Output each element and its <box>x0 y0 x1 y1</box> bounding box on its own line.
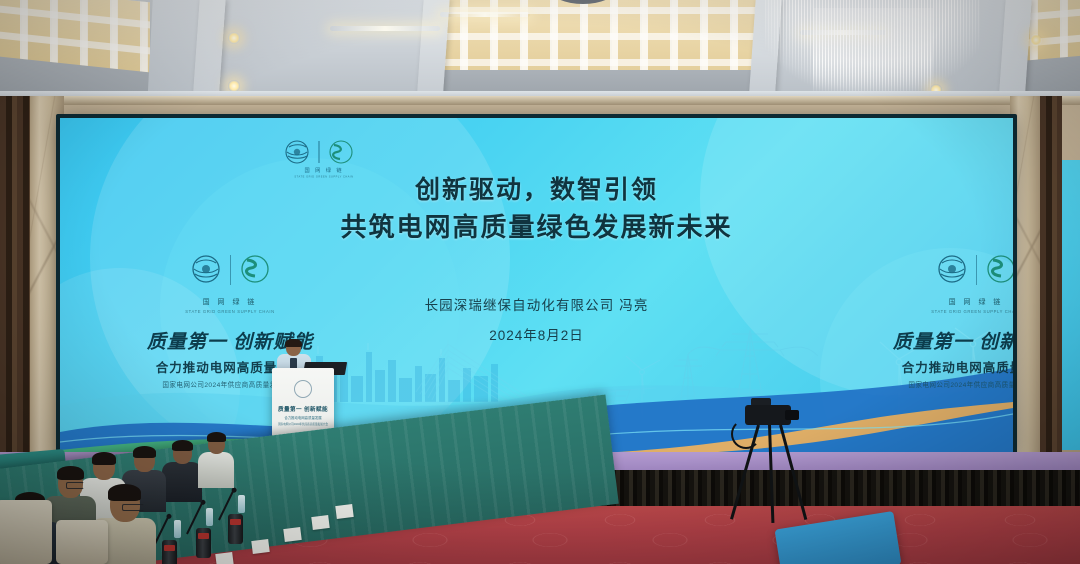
thermos-flask <box>228 514 243 544</box>
state-grid-globe-icon-right <box>933 251 971 289</box>
marble-column-left <box>30 96 64 466</box>
water-bottle <box>238 495 245 513</box>
cove-strip-light-1 <box>330 26 440 31</box>
audience-hair <box>57 466 84 480</box>
state-grid-globe-icon-left <box>187 251 225 289</box>
marble-column-right <box>1010 96 1040 466</box>
audience-hair <box>133 446 156 458</box>
ballroom-ceiling <box>0 0 1080 104</box>
audience-hair <box>172 440 193 451</box>
wall-top-trim <box>0 96 1080 105</box>
name-tent-card <box>251 539 269 554</box>
audience-torso <box>162 462 202 502</box>
slide-title-line1: 创新驱动，数智引领 <box>60 172 1013 209</box>
podium-brand-line2: 合力推动电网高质量发展 <box>272 415 334 420</box>
banner-right-subhead: 合力推动电网高质量发展 <box>878 357 1013 376</box>
podium-logo-icon <box>294 380 312 398</box>
slide-date: 2024年8月2日 <box>60 324 1013 344</box>
thermos-flask <box>162 540 177 564</box>
ceiling-bay-center <box>430 0 760 70</box>
camera-lens <box>785 410 799 420</box>
tripod-leg-center <box>768 425 774 523</box>
podium-brand-line3: 国家电网公司2024年供应商高质量发展大会 <box>272 422 334 426</box>
banner-right-logo-divider <box>976 255 977 285</box>
audience-person <box>198 432 234 486</box>
ceiling-soffit-left <box>147 0 432 104</box>
conference-photo-scene: 国 网 绿 链 STATE GRID GREEN SUPPLY CHAIN <box>0 0 1080 564</box>
banner-left-logos <box>132 244 328 296</box>
audience-torso <box>198 452 234 488</box>
banner-right-logos <box>878 244 1013 296</box>
ceiling-lattice-center <box>430 0 760 70</box>
marble-veining-left <box>30 96 64 466</box>
ceiling-bay-left <box>0 0 150 72</box>
water-bottle <box>206 508 213 526</box>
downlight-1 <box>228 32 240 44</box>
ceiling-lattice-left <box>0 0 150 72</box>
name-tent-card <box>311 515 329 530</box>
slide-presenter-line: 长园深瑞继保自动化有限公司 冯亮 <box>60 294 1013 314</box>
banner-right-footnote: 国家电网公司2024年供应商高质量发展大会 <box>878 379 1013 389</box>
chandelier-core <box>813 8 933 94</box>
name-tent-card <box>335 504 353 519</box>
banner-left-logo-divider <box>230 255 231 285</box>
name-tent-card <box>215 552 233 564</box>
eyeglasses-icon <box>66 482 84 489</box>
audience-hair <box>92 452 116 465</box>
right-curtain <box>1040 96 1062 468</box>
slide-title: 创新驱动，数智引领 共筑电网高质量绿色发展新未来 <box>60 172 1013 246</box>
cove-strip-light-2 <box>440 12 530 17</box>
audience-hair <box>108 484 141 501</box>
audience-chair <box>56 520 108 564</box>
audience-chair <box>0 500 52 564</box>
right-screen-sliver <box>1062 160 1080 450</box>
podium-brand-line1: 质量第一 创新赋能 <box>272 405 334 413</box>
thermos-flask <box>196 528 211 558</box>
green-chain-icon-right <box>982 251 1014 289</box>
video-camera-tripod <box>735 405 803 525</box>
audience-hair <box>207 432 226 442</box>
left-curtain <box>0 96 34 468</box>
audience-person <box>162 440 202 500</box>
downlight-3 <box>1030 34 1042 46</box>
water-bottle <box>174 520 181 538</box>
green-chain-icon-left <box>236 251 274 289</box>
crystal-chandelier <box>765 0 980 100</box>
slide-title-line2: 共筑电网高质量绿色发展新未来 <box>60 209 1013 247</box>
name-tent-card <box>283 527 301 542</box>
eyeglasses-icon <box>122 504 144 511</box>
presenter-hair <box>285 339 302 347</box>
marble-veining-right <box>1010 96 1040 466</box>
